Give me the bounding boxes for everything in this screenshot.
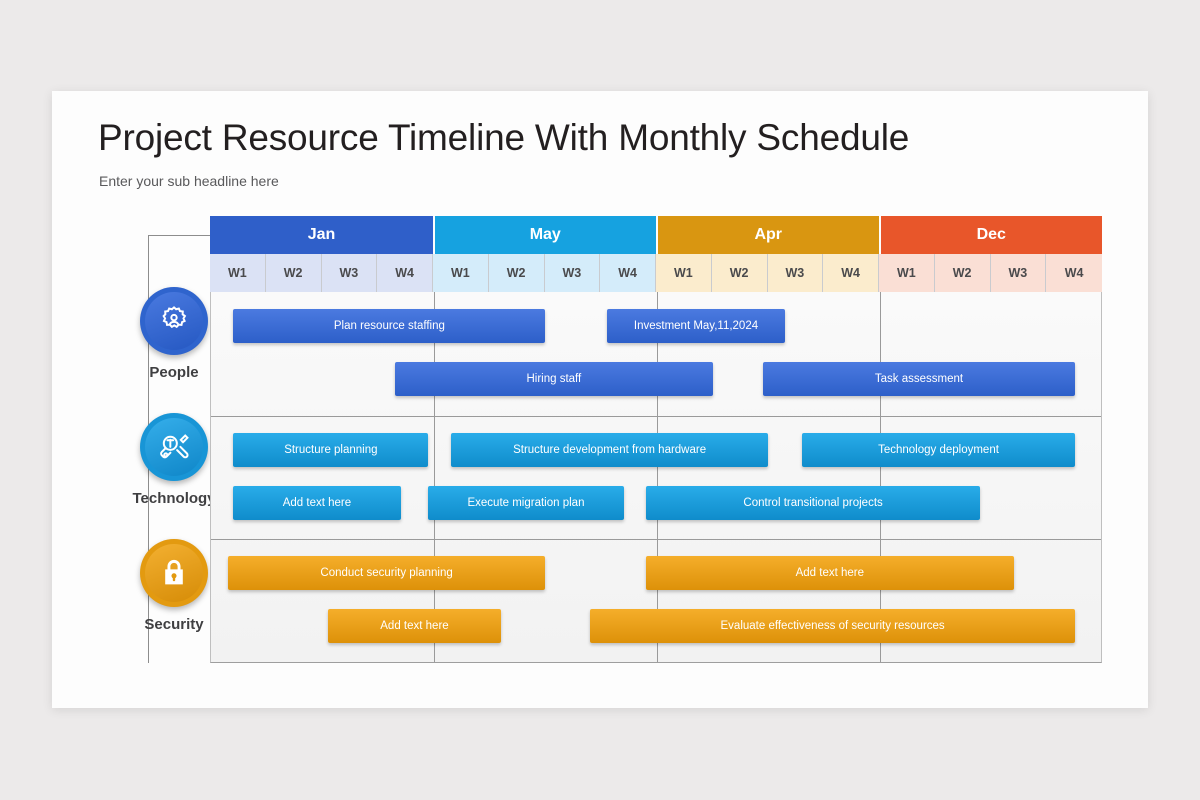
gantt-bar[interactable]: Task assessment <box>763 362 1075 396</box>
gantt-bar[interactable]: Add text here <box>646 556 1014 590</box>
week-header-row: W1W2W3W4W1W2W3W4W1W2W3W4W1W2W3W4 <box>210 254 1102 292</box>
gantt-bar[interactable]: Conduct security planning <box>228 556 546 590</box>
padlock-icon <box>158 557 190 589</box>
connector-horizontal <box>148 235 212 236</box>
week-header-dec-w2[interactable]: W2 <box>935 254 991 292</box>
gantt-bar[interactable]: Add text here <box>328 609 501 643</box>
timeline-body: Plan resource staffingInvestment May,11,… <box>210 292 1102 663</box>
slide-canvas: Project Resource Timeline With Monthly S… <box>52 91 1148 708</box>
gear-person-icon <box>157 304 191 338</box>
week-header-dec-w3[interactable]: W3 <box>991 254 1047 292</box>
gantt-bar[interactable]: Control transitional projects <box>646 486 981 520</box>
week-header-may-w3[interactable]: W3 <box>545 254 601 292</box>
page-subtitle: Enter your sub headline here <box>99 173 279 189</box>
timeline-grid: JanMayAprDec W1W2W3W4W1W2W3W4W1W2W3W4W1W… <box>210 216 1102 663</box>
gantt-bar[interactable]: Execute migration plan <box>428 486 623 520</box>
gantt-bar[interactable]: Add text here <box>233 486 400 520</box>
month-header-jan[interactable]: Jan <box>210 216 433 254</box>
gantt-bar[interactable]: Investment May,11,2024 <box>607 309 785 343</box>
week-header-may-w4[interactable]: W4 <box>600 254 656 292</box>
week-header-may-w2[interactable]: W2 <box>489 254 545 292</box>
week-header-dec-w1[interactable]: W1 <box>879 254 935 292</box>
week-header-may-w1[interactable]: W1 <box>433 254 489 292</box>
month-header-may[interactable]: May <box>435 216 657 254</box>
month-divider <box>657 292 658 662</box>
tools-gear-icon <box>157 430 191 464</box>
month-header-dec[interactable]: Dec <box>881 216 1103 254</box>
week-header-apr-w2[interactable]: W2 <box>712 254 768 292</box>
security-badge <box>140 539 208 607</box>
gantt-bar[interactable]: Plan resource staffing <box>233 309 545 343</box>
month-header-row: JanMayAprDec <box>210 216 1102 254</box>
week-header-dec-w4[interactable]: W4 <box>1046 254 1102 292</box>
gantt-bar[interactable]: Structure planning <box>233 433 428 467</box>
gantt-bar[interactable]: Technology deployment <box>802 433 1075 467</box>
row-divider <box>211 539 1101 540</box>
week-header-jan-w4[interactable]: W4 <box>377 254 433 292</box>
week-header-jan-w2[interactable]: W2 <box>266 254 322 292</box>
month-header-apr[interactable]: Apr <box>658 216 880 254</box>
page-title: Project Resource Timeline With Monthly S… <box>98 117 909 159</box>
week-header-jan-w1[interactable]: W1 <box>210 254 266 292</box>
week-header-apr-w4[interactable]: W4 <box>823 254 879 292</box>
week-header-jan-w3[interactable]: W3 <box>322 254 378 292</box>
people-badge <box>140 287 208 355</box>
technology-badge <box>140 413 208 481</box>
gantt-bar[interactable]: Hiring staff <box>395 362 713 396</box>
month-divider <box>434 292 435 662</box>
gantt-bar[interactable]: Evaluate effectiveness of security resou… <box>590 609 1075 643</box>
month-divider <box>880 292 881 662</box>
gantt-bar[interactable]: Structure development from hardware <box>451 433 769 467</box>
row-divider <box>211 416 1101 417</box>
week-header-apr-w3[interactable]: W3 <box>768 254 824 292</box>
week-header-apr-w1[interactable]: W1 <box>656 254 712 292</box>
